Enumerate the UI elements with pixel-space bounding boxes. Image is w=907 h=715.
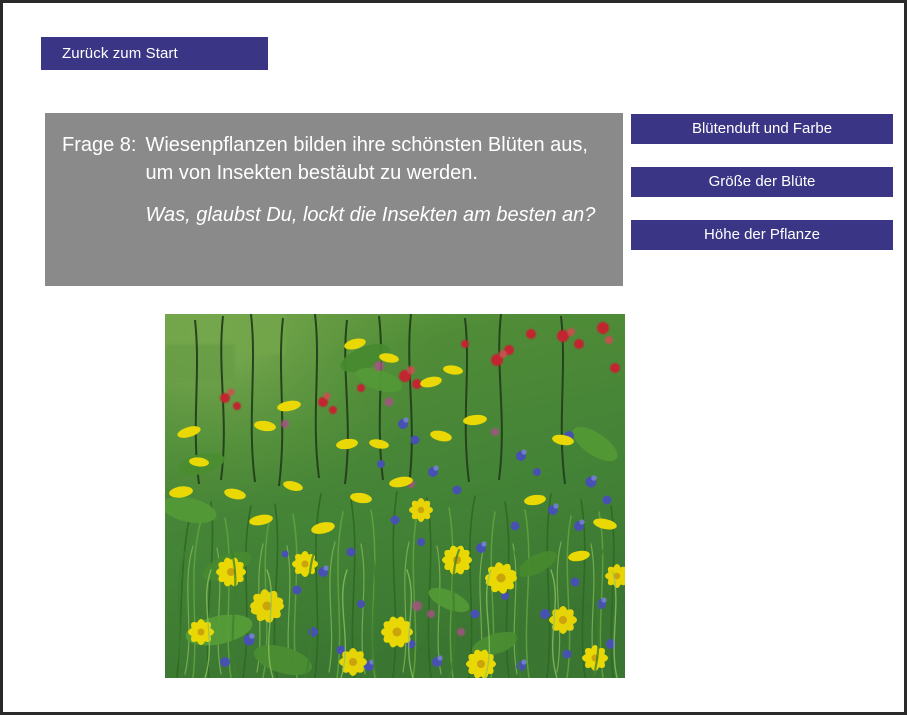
answer-options: Blütenduft und Farbe Größe der Blüte Höh… bbox=[631, 114, 893, 250]
answer-option-3[interactable]: Höhe der Pflanze bbox=[631, 220, 893, 250]
question-row: Frage 8: Wiesenpflanzen bilden ihre schö… bbox=[62, 131, 609, 229]
answer-option-2[interactable]: Größe der Blüte bbox=[631, 167, 893, 197]
answer-spacer bbox=[631, 144, 893, 167]
meadow-photo-graphic bbox=[165, 314, 625, 678]
meadow-photo bbox=[165, 314, 625, 678]
question-panel: Frage 8: Wiesenpflanzen bilden ihre schö… bbox=[45, 113, 623, 286]
answer-spacer bbox=[631, 197, 893, 220]
quiz-slide: Zurück zum Start Frage 8: Wiesenpflanzen… bbox=[0, 0, 907, 715]
question-statement: Wiesenpflanzen bilden ihre schönsten Blü… bbox=[145, 131, 609, 187]
answer-option-1[interactable]: Blütenduft und Farbe bbox=[631, 114, 893, 144]
question-body: Wiesenpflanzen bilden ihre schönsten Blü… bbox=[145, 131, 609, 229]
back-to-start-button[interactable]: Zurück zum Start bbox=[41, 37, 268, 70]
question-prompt: Was, glaubst Du, lockt die Insekten am b… bbox=[145, 201, 609, 229]
question-number-label: Frage 8: bbox=[62, 131, 145, 159]
